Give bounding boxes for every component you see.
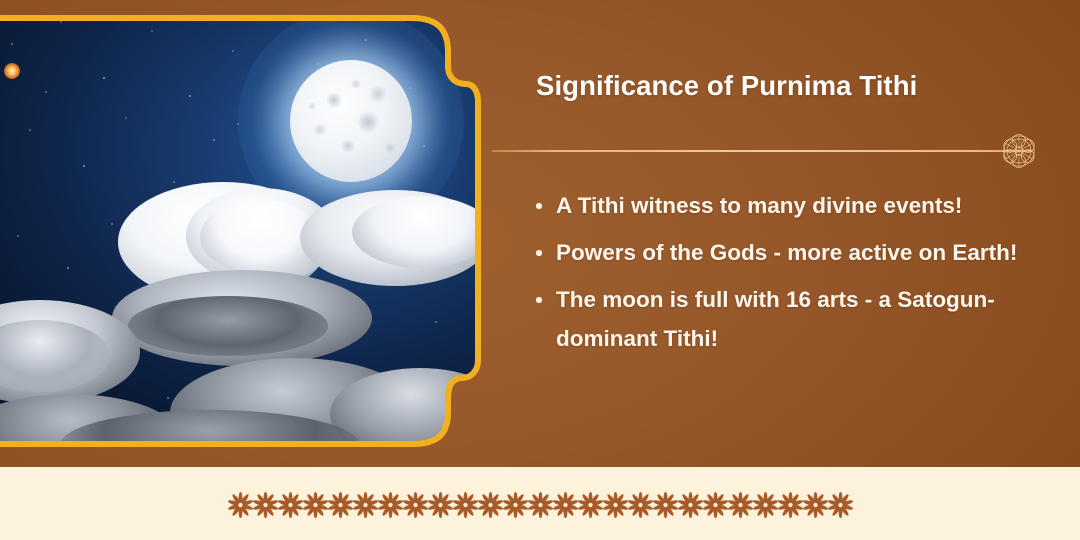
flower-star-icon (828, 490, 853, 520)
flower-star-icon (678, 490, 703, 520)
bullet-item: A Tithi witness to many divine events! (526, 186, 1046, 225)
hero-image-panel (0, 0, 486, 458)
flower-star-icon (528, 490, 553, 520)
flower-star-icon (578, 490, 603, 520)
cloud-shape (352, 196, 486, 268)
bullet-dot-icon (536, 297, 542, 303)
bullet-text: The moon is full with 16 arts - a Satogu… (556, 287, 995, 351)
flower-star-icon (453, 490, 478, 520)
flower-star-icon (603, 490, 628, 520)
bullet-item: Powers of the Gods - more active on Eart… (526, 233, 1046, 272)
cloud-group (0, 0, 486, 458)
flower-star-icon (803, 490, 828, 520)
mandala-flower-icon (996, 128, 1042, 174)
bullet-list: A Tithi witness to many divine events! P… (526, 186, 1046, 366)
flower-star-icon (653, 490, 678, 520)
flower-star-icon (378, 490, 403, 520)
page-title: Significance of Purnima Tithi (536, 70, 917, 102)
flower-star-icon (553, 490, 578, 520)
bullet-text: A Tithi witness to many divine events! (556, 193, 962, 218)
flower-star-icon (428, 490, 453, 520)
slide-canvas: Significance of Purnima Tithi (0, 0, 1080, 540)
flower-star-icon (228, 490, 253, 520)
flower-star-icon (628, 490, 653, 520)
flower-star-icon (703, 490, 728, 520)
horizontal-divider (492, 150, 1032, 152)
flower-star-icon (328, 490, 353, 520)
title-divider-group (492, 148, 1080, 154)
flower-row (228, 490, 853, 520)
flower-star-icon (278, 490, 303, 520)
flower-star-icon (503, 490, 528, 520)
bullet-text: Powers of the Gods - more active on Eart… (556, 240, 1017, 265)
bullet-item: The moon is full with 16 arts - a Satogu… (526, 280, 1046, 358)
flower-star-icon (778, 490, 803, 520)
hero-image-clip (0, 0, 486, 458)
flower-star-icon (478, 490, 503, 520)
flower-border-strip (0, 467, 1080, 540)
flower-star-icon (253, 490, 278, 520)
flower-star-icon (303, 490, 328, 520)
cloud-shape (128, 296, 328, 356)
bullet-dot-icon (536, 203, 542, 209)
bullet-dot-icon (536, 250, 542, 256)
flower-star-icon (728, 490, 753, 520)
flower-star-icon (353, 490, 378, 520)
flower-star-icon (753, 490, 778, 520)
content-column: Significance of Purnima Tithi (492, 0, 1080, 467)
flower-star-icon (403, 490, 428, 520)
